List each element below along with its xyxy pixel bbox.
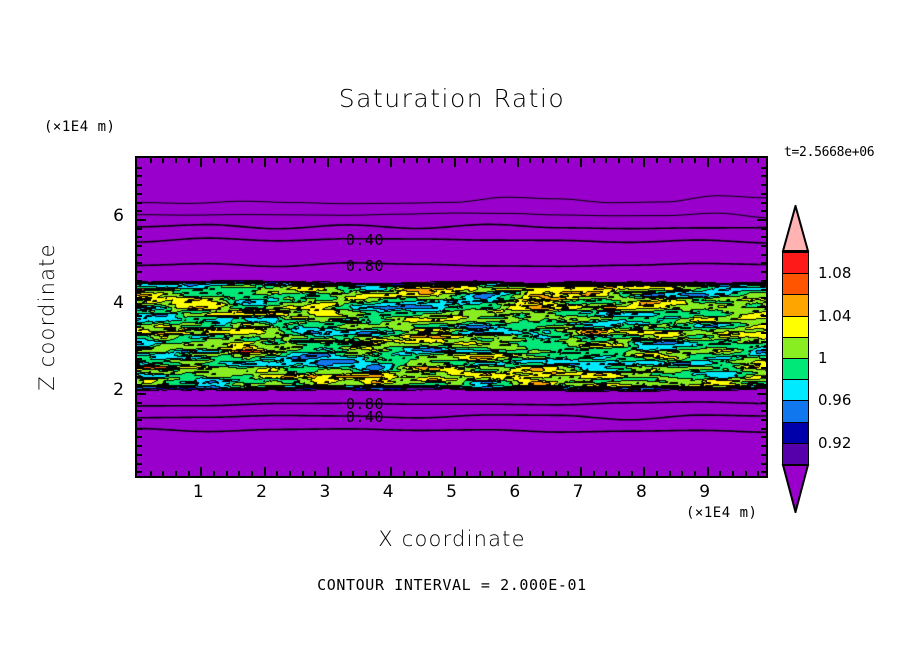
axis-tick (428, 471, 430, 476)
axis-tick (761, 367, 766, 369)
axis-tick (175, 471, 177, 476)
axis-tick (137, 445, 142, 447)
axis-tick (761, 323, 766, 325)
axis-tick (441, 471, 443, 476)
axis-tick (200, 467, 202, 476)
axis-tick (761, 341, 766, 343)
axis-tick (137, 393, 146, 395)
axis-tick (137, 271, 142, 273)
axis-tick (150, 471, 152, 476)
colorbar-band (782, 422, 809, 445)
colorbar-band (782, 273, 809, 296)
x-axis-tick-label: 9 (690, 482, 720, 502)
axis-tick (761, 175, 766, 177)
axis-tick (761, 471, 766, 473)
axis-tick (390, 467, 392, 476)
axis-tick (289, 471, 291, 476)
axis-tick (264, 158, 266, 167)
axis-tick (137, 384, 142, 386)
axis-tick (289, 158, 291, 163)
axis-tick (162, 471, 164, 476)
axis-tick (137, 175, 142, 177)
axis-tick (504, 471, 506, 476)
axis-tick (365, 158, 367, 163)
axis-tick (761, 245, 766, 247)
colorbar-over-arrow-icon (781, 205, 810, 253)
axis-tick (137, 341, 142, 343)
axis-tick (681, 158, 683, 163)
colorbar-tick-label: 0.96 (818, 391, 851, 409)
axis-tick (761, 236, 766, 238)
axis-tick (761, 289, 766, 291)
axis-tick (390, 158, 392, 167)
axis-tick (238, 471, 240, 476)
axis-tick (365, 471, 367, 476)
colorbar-band (782, 337, 809, 360)
axis-tick (378, 471, 380, 476)
axis-tick (137, 376, 142, 378)
axis-tick (137, 228, 142, 230)
x-axis-tick-label: 8 (626, 482, 656, 502)
axis-tick (491, 158, 493, 163)
axis-tick (314, 471, 316, 476)
colorbar-tick-label: 1 (818, 349, 828, 367)
axis-tick (761, 297, 766, 299)
axis-tick (694, 471, 696, 476)
axis-tick (251, 158, 253, 163)
axis-tick (416, 158, 418, 163)
axis-tick (137, 245, 142, 247)
axis-tick (454, 158, 456, 167)
axis-tick (276, 471, 278, 476)
x-axis-tick-label: 4 (373, 482, 403, 502)
axis-tick (681, 471, 683, 476)
axis-tick (631, 471, 633, 476)
axis-tick (732, 158, 734, 163)
axis-tick (694, 158, 696, 163)
axis-tick (761, 184, 766, 186)
x-axis-tick-label: 6 (500, 482, 530, 502)
contour-line-label: 0.80 (346, 257, 384, 275)
colorbar-band (782, 294, 809, 317)
axis-tick (441, 158, 443, 163)
axis-tick (732, 471, 734, 476)
axis-tick (605, 471, 607, 476)
axis-tick (643, 467, 645, 476)
axis-tick (137, 236, 142, 238)
axis-tick (137, 367, 142, 369)
y-axis-tick-label: 6 (98, 206, 124, 226)
colorbar[interactable]: 1.081.0410.960.92 (782, 252, 809, 464)
axis-tick (656, 471, 658, 476)
axis-tick (251, 471, 253, 476)
axis-tick (761, 202, 766, 204)
colorbar-band (782, 379, 809, 402)
axis-tick (213, 471, 215, 476)
axis-tick (137, 358, 142, 360)
axis-tick (719, 471, 721, 476)
axis-tick (761, 315, 766, 317)
axis-tick (213, 158, 215, 163)
axis-tick (150, 158, 152, 163)
axis-tick (761, 445, 766, 447)
contour-plot-area[interactable]: 0.400.800.800.40 (135, 156, 768, 478)
axis-tick (567, 471, 569, 476)
axis-tick (137, 454, 142, 456)
axis-tick (327, 158, 329, 167)
axis-tick (761, 419, 766, 421)
axis-tick (378, 158, 380, 163)
axis-tick (761, 436, 766, 438)
axis-tick (656, 158, 658, 163)
axis-tick (593, 158, 595, 163)
axis-tick (761, 358, 766, 360)
axis-tick (137, 289, 142, 291)
axis-tick (618, 471, 620, 476)
axis-tick (226, 158, 228, 163)
axis-tick (340, 471, 342, 476)
axis-tick (757, 393, 766, 395)
axis-tick (631, 158, 633, 163)
axis-tick (669, 158, 671, 163)
axis-tick (403, 471, 405, 476)
axis-tick (352, 471, 354, 476)
axis-tick (428, 158, 430, 163)
axis-tick (517, 158, 519, 167)
axis-tick (761, 280, 766, 282)
axis-tick (137, 254, 142, 256)
y-axis-title: Z coordinate (35, 237, 59, 397)
axis-tick (517, 467, 519, 476)
axis-tick (314, 158, 316, 163)
axis-tick (580, 467, 582, 476)
colorbar-tick-label: 1.08 (818, 264, 851, 282)
colorbar-band (782, 400, 809, 423)
x-axis-tick-label: 3 (310, 482, 340, 502)
axis-tick (137, 193, 142, 195)
axis-tick (137, 323, 142, 325)
axis-tick (761, 428, 766, 430)
axis-tick (761, 349, 766, 351)
axis-tick (238, 158, 240, 163)
axis-tick (757, 158, 759, 163)
axis-tick (137, 184, 142, 186)
colorbar-tick-label: 1.04 (818, 307, 851, 325)
axis-tick (137, 202, 142, 204)
axis-tick (302, 471, 304, 476)
axis-tick (479, 471, 481, 476)
axis-tick (618, 158, 620, 163)
axis-tick (137, 315, 142, 317)
axis-tick (137, 436, 142, 438)
colorbar-band (782, 252, 809, 275)
axis-tick (757, 306, 766, 308)
axis-tick (761, 271, 766, 273)
axis-tick (761, 262, 766, 264)
axis-tick (761, 228, 766, 230)
colorbar-band (782, 316, 809, 339)
axis-tick (454, 467, 456, 476)
axis-tick (403, 158, 405, 163)
axis-tick (555, 471, 557, 476)
axis-tick (226, 471, 228, 476)
contour-line-label: 0.40 (346, 408, 384, 426)
axis-tick (643, 158, 645, 167)
axis-tick (761, 402, 766, 404)
axis-tick (761, 454, 766, 456)
axis-tick (137, 219, 146, 221)
axis-tick (745, 471, 747, 476)
axis-tick (605, 158, 607, 163)
axis-tick (175, 158, 177, 163)
axis-tick (137, 419, 142, 421)
axis-tick (466, 471, 468, 476)
saturation-field-canvas (137, 158, 768, 478)
y-axis-unit-label: (×1E4 m) (44, 119, 115, 135)
axis-tick (466, 158, 468, 163)
axis-tick (137, 332, 142, 334)
axis-tick (761, 384, 766, 386)
axis-tick (302, 158, 304, 163)
axis-tick (580, 158, 582, 167)
axis-tick (719, 158, 721, 163)
axis-tick (188, 158, 190, 163)
y-axis-tick-label: 2 (98, 380, 124, 400)
axis-tick (137, 297, 142, 299)
axis-tick (761, 376, 766, 378)
axis-tick (188, 471, 190, 476)
time-stamp-label: t=2.5668e+06 (784, 145, 874, 160)
axis-tick (137, 280, 142, 282)
y-axis-tick-label: 4 (98, 293, 124, 313)
axis-tick (757, 471, 759, 476)
axis-tick (761, 332, 766, 334)
colorbar-band (782, 358, 809, 381)
axis-tick (491, 471, 493, 476)
page-title: Saturation Ratio (0, 84, 904, 113)
x-axis-tick-label: 2 (247, 482, 277, 502)
x-axis-tick-label: 7 (563, 482, 593, 502)
axis-tick (276, 158, 278, 163)
axis-tick (479, 158, 481, 163)
x-axis-tick-label: 5 (437, 482, 467, 502)
axis-tick (707, 158, 709, 167)
axis-tick (352, 158, 354, 163)
axis-tick (761, 193, 766, 195)
axis-tick (761, 167, 766, 169)
axis-tick (137, 463, 142, 465)
colorbar-under-arrow-icon (781, 463, 810, 513)
x-axis-title: X coordinate (0, 527, 904, 551)
axis-tick (504, 158, 506, 163)
axis-tick (757, 219, 766, 221)
axis-tick (137, 306, 146, 308)
axis-tick (707, 467, 709, 476)
x-axis-unit-label: (×1E4 m) (686, 505, 757, 521)
x-axis-tick-label: 1 (183, 482, 213, 502)
axis-tick (761, 254, 766, 256)
axis-tick (593, 471, 595, 476)
axis-tick (137, 428, 142, 430)
axis-tick (137, 402, 142, 404)
axis-tick (555, 158, 557, 163)
axis-tick (137, 410, 142, 412)
axis-tick (761, 210, 766, 212)
axis-tick (162, 158, 164, 163)
axis-tick (200, 158, 202, 167)
axis-tick (137, 262, 142, 264)
axis-tick (542, 158, 544, 163)
axis-tick (761, 410, 766, 412)
axis-tick (567, 158, 569, 163)
axis-tick (542, 471, 544, 476)
axis-tick (137, 210, 142, 212)
colorbar-tick-label: 0.92 (818, 434, 851, 452)
contour-line-label: 0.40 (346, 231, 384, 249)
axis-tick (745, 158, 747, 163)
axis-tick (137, 349, 142, 351)
contour-interval-note: CONTOUR INTERVAL = 2.000E-01 (0, 576, 904, 594)
axis-tick (529, 158, 531, 163)
axis-tick (416, 471, 418, 476)
axis-tick (340, 158, 342, 163)
axis-tick (761, 463, 766, 465)
axis-tick (669, 471, 671, 476)
axis-tick (137, 167, 142, 169)
axis-tick (529, 471, 531, 476)
axis-tick (327, 467, 329, 476)
axis-tick (264, 467, 266, 476)
axis-tick (137, 471, 142, 473)
